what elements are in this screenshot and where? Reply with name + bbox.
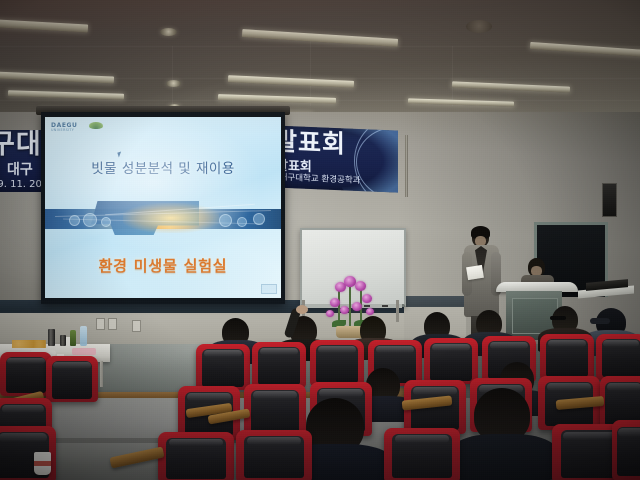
wall-outlet (108, 318, 117, 330)
slide-corner-mark (261, 284, 277, 294)
orchid-flower (330, 298, 340, 307)
auditorium-seat[interactable] (196, 344, 250, 390)
green-bottle (70, 330, 76, 346)
presentation-slide: DAEGU UNIVERSITY 빗물 성분분석 및 재이용 환경 미생물 실험 (45, 117, 281, 298)
wall-chalk-rail-right (404, 296, 464, 307)
slide-banner-graphic (45, 201, 281, 237)
logo-emblem-icon (89, 122, 103, 129)
whiteboard-marker (382, 305, 388, 307)
ceiling-light-fixture (228, 75, 354, 88)
ceiling-light-fixture (452, 81, 570, 92)
glasses-icon (550, 316, 566, 320)
thermos (48, 329, 55, 346)
auditorium-seat[interactable] (46, 356, 98, 402)
water-bottle (80, 326, 87, 346)
ceiling-light-fixture (530, 42, 640, 57)
table-leg (100, 361, 103, 387)
auditorium-seat[interactable] (158, 432, 234, 480)
auditorium-photo: 구대 대구 09. 11. 20(금 발표회 발표회 : 대구대학교 환경공학과… (0, 0, 640, 480)
wall-speaker (602, 183, 617, 217)
orchid-flower (366, 308, 374, 315)
orchid-flower (340, 306, 349, 314)
ceiling-light-fixture (242, 29, 398, 47)
auditorium-seat[interactable] (236, 430, 312, 480)
ceiling-light-fixture (8, 90, 124, 100)
whiteboard-leg-right (396, 300, 399, 322)
banner-left-line1: 구대 (0, 131, 42, 158)
ceiling-downlight (166, 80, 181, 87)
auditorium-seat[interactable] (612, 420, 640, 480)
slide-subtitle: 환경 미생물 실험실 (45, 255, 281, 276)
pink-napkin (72, 348, 96, 355)
orchid-flower (355, 281, 366, 291)
ceiling-light-fixture (218, 94, 336, 104)
snack-tray (12, 340, 46, 348)
banner-right-affiliation: : 대구대학교 환경공학과 (274, 170, 360, 186)
auditorium-seat[interactable] (540, 334, 594, 380)
ceiling-light-fixture (0, 71, 114, 83)
orchid-flower (362, 294, 372, 303)
ceiling-light-fixture (408, 98, 514, 106)
auditorium-seat[interactable] (596, 334, 640, 380)
presenter-notes-paper (466, 265, 484, 280)
audience-shoulders-foreground (450, 434, 558, 480)
wall-outlet (132, 320, 141, 332)
ceiling-air-vent (466, 20, 492, 33)
slide-title: 빗물 성분분석 및 재이용 (45, 157, 281, 177)
ceiling-downlight (160, 28, 177, 36)
cup-band (34, 461, 51, 466)
ceiling-light-fixture (0, 19, 88, 32)
audience-hand (296, 305, 308, 314)
logo-subtext: UNIVERSITY (51, 129, 105, 133)
auditorium-seat[interactable] (310, 340, 364, 386)
university-logo: DAEGU UNIVERSITY (51, 123, 105, 138)
wall-pole (405, 135, 408, 197)
paper-coffee-cup (34, 452, 51, 475)
orchid-flower (326, 310, 334, 317)
cap-brim-icon (590, 318, 610, 324)
auditorium-seat[interactable] (384, 428, 460, 480)
auditorium-seat[interactable] (0, 352, 52, 396)
projection-screen: DAEGU UNIVERSITY 빗물 성분분석 및 재이용 환경 미생물 실험 (41, 112, 285, 304)
auditorium-seat[interactable] (252, 342, 306, 388)
banner-right: 발표회 발표회 : 대구대학교 환경공학과 (272, 125, 398, 192)
orchid-flower (352, 302, 362, 311)
wall-outlet (96, 318, 105, 330)
